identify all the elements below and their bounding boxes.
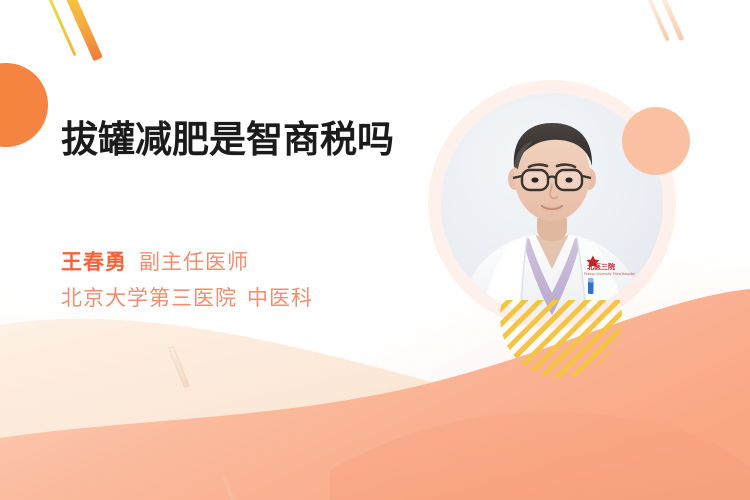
page-title: 拔罐减肥是智商税吗 <box>61 118 429 161</box>
striped-half-disc-decor <box>500 300 622 378</box>
doctor-rank: 副主任医师 <box>139 251 249 274</box>
pen-in-pocket <box>588 278 594 294</box>
peach-circle-decor <box>622 107 690 175</box>
hospital-name: 北京大学第三医院 <box>61 287 237 310</box>
svg-text:Peking University Third Hospit: Peking University Third Hospital <box>584 272 635 276</box>
doctor-affiliation: 北京大学第三医院中医科 <box>61 281 313 317</box>
department-name: 中医科 <box>247 287 313 310</box>
doctor-name: 王春勇 <box>61 251 127 274</box>
stripe-pattern <box>500 300 622 378</box>
doctor-byline: 王春勇副主任医师 <box>61 245 249 281</box>
svg-text:北医三院: 北医三院 <box>587 262 615 271</box>
promo-card: 北医三院 Peking University Third Hospital 拔罐… <box>0 0 750 500</box>
